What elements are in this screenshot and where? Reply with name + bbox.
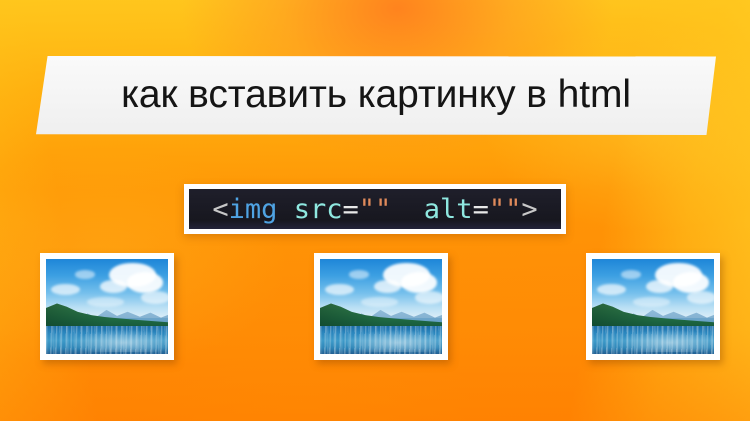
code-token-space-2	[391, 194, 424, 225]
title-banner: как вставить картинку в html	[36, 56, 716, 135]
photo-cloud	[401, 272, 438, 293]
photo-cloud	[597, 284, 626, 295]
landscape-photo	[320, 259, 442, 354]
image-thumbnail-1	[40, 253, 174, 360]
photo-cloud	[100, 280, 127, 293]
photo-cloud	[687, 291, 714, 303]
landscape-photo	[592, 259, 714, 354]
page-title: как вставить картинку в html	[36, 56, 716, 135]
slide-canvas: как вставить картинку в html <img src=""…	[0, 0, 750, 421]
code-token-tag-name: img	[229, 194, 278, 225]
code-snippet-line: <img src="" alt="">	[212, 196, 537, 223]
code-token-string-src: ""	[359, 194, 392, 225]
photo-cloud	[325, 284, 354, 295]
image-thumbnail-3	[586, 253, 720, 360]
photo-cloud	[646, 280, 673, 293]
code-snippet-surface: <img src="" alt="">	[189, 189, 561, 229]
photo-cloud	[621, 270, 641, 279]
code-token-space-1	[277, 194, 293, 225]
photo-cloud	[633, 297, 670, 307]
code-token-close-bracket: >	[521, 194, 537, 225]
photo-cloud	[349, 270, 369, 279]
photo-cloud	[75, 270, 95, 279]
photo-cloud	[415, 291, 442, 303]
code-token-attr-alt: alt	[424, 194, 473, 225]
code-token-attr-src: src	[294, 194, 343, 225]
photo-water-glow	[70, 329, 168, 352]
photo-cloud	[361, 297, 398, 307]
photo-cloud	[127, 272, 164, 293]
code-snippet-box: <img src="" alt="">	[184, 184, 566, 234]
photo-cloud	[141, 291, 168, 303]
photo-cloud	[87, 297, 124, 307]
code-token-open-bracket: <	[212, 194, 228, 225]
landscape-photo	[46, 259, 168, 354]
photo-water-glow	[616, 329, 714, 352]
code-token-equals-1: =	[342, 194, 358, 225]
photo-cloud	[374, 280, 401, 293]
image-thumbnail-2	[314, 253, 448, 360]
code-token-string-alt: ""	[489, 194, 522, 225]
photo-cloud	[673, 272, 710, 293]
photo-water-glow	[344, 329, 442, 352]
code-token-equals-2: =	[473, 194, 489, 225]
photo-cloud	[51, 284, 80, 295]
